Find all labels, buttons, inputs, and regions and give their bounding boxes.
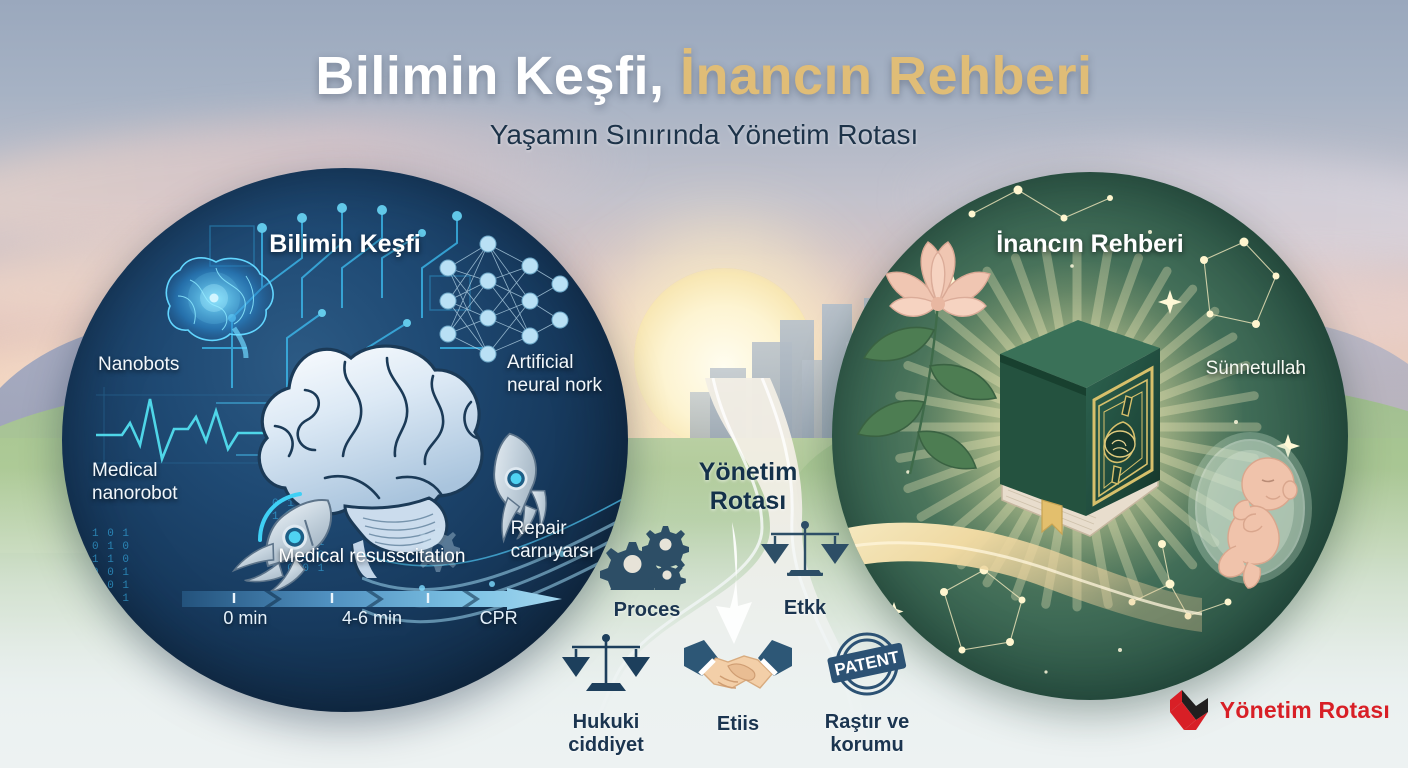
center-item-label-line2: ciddiyet [568, 734, 644, 756]
scales-icon [562, 630, 650, 702]
timeline-title: Medical resusscitation [182, 546, 562, 568]
timeline-stage: 4-6 min [309, 608, 436, 629]
title-block: Bilimin Keşfi, İnancın Rehberi Yaşamın S… [0, 48, 1408, 151]
handshake-icon [684, 632, 792, 704]
center-item-label-line1: Raştır ve [825, 711, 910, 733]
fetus-icon [1170, 422, 1330, 592]
label-sunnetullah: Sünnetullah [1206, 358, 1306, 381]
page-title: Bilimin Keşfi, İnancın Rehberi [0, 48, 1408, 105]
center-item-etkk[interactable]: Etkk [740, 518, 870, 620]
infographic-canvas: Bilimin Keşfi, İnancın Rehberi Yaşamın S… [0, 0, 1408, 768]
center-item-label: Etkk [740, 597, 870, 620]
title-part-faith: İnancın Rehberi [680, 46, 1093, 106]
faith-panel-heading: İnancın Rehberi [832, 230, 1348, 259]
label-artificial-neural-line2: neural nork [507, 375, 602, 396]
center-item-label: Hukuki ciddiyet [540, 711, 672, 757]
timeline-stage: 0 min [182, 608, 309, 629]
center-title-line1: Yönetim [699, 458, 798, 486]
center-item-label-line1: Hukuki [573, 711, 640, 733]
brand-logo[interactable]: Yönetim Rotası [1166, 688, 1390, 732]
yonetim-rotasi-logo-icon [1166, 688, 1212, 732]
center-path-title: Yönetim Rotası [658, 458, 838, 516]
page-subtitle: Yaşamın Sınırında Yönetim Rotası [0, 119, 1408, 151]
patent-stamp-icon: PATENT [817, 630, 917, 702]
center-item-label: Etiis [668, 713, 808, 736]
science-panel-heading: Bilimin Keşfi [62, 230, 628, 259]
timeline-bar [182, 588, 562, 608]
center-item-rastir-ve-korumu[interactable]: PATENT Raştır ve korumu [792, 630, 942, 757]
label-medical-nanorobot-line1: Medical [92, 460, 157, 481]
center-item-hukuki-ciddiyet[interactable]: Hukuki ciddiyet [540, 630, 672, 757]
label-nanobots: Nanobots [98, 354, 179, 377]
scales-icon [761, 518, 849, 588]
quran-book-icon [982, 304, 1172, 539]
center-item-etiis[interactable]: Etiis [668, 632, 808, 736]
center-item-label: Proces [582, 599, 712, 622]
binary-code-icon: 1 0 10 1 01 1 00 0 11 0 10 1 1 [92, 528, 130, 606]
gears-icon [599, 522, 695, 590]
logo-text: Yönetim Rotası [1220, 697, 1390, 724]
center-item-proces[interactable]: Proces [582, 522, 712, 622]
center-item-label-line2: korumu [830, 734, 903, 756]
center-path-column: Yönetim Rotası Proces [540, 440, 930, 760]
title-part-science: Bilimin Keşfi, [315, 46, 664, 106]
center-title-line2: Rotası [710, 487, 786, 515]
center-item-label: Raştır ve korumu [792, 711, 942, 757]
label-medical-nanorobot-line2: nanorobot [92, 483, 178, 504]
resuscitation-timeline: Medical resusscitation [182, 574, 562, 634]
timeline-ticks: 0 min 4-6 min CPR [182, 608, 562, 629]
label-artificial-neural-line1: Artificial [507, 352, 574, 373]
